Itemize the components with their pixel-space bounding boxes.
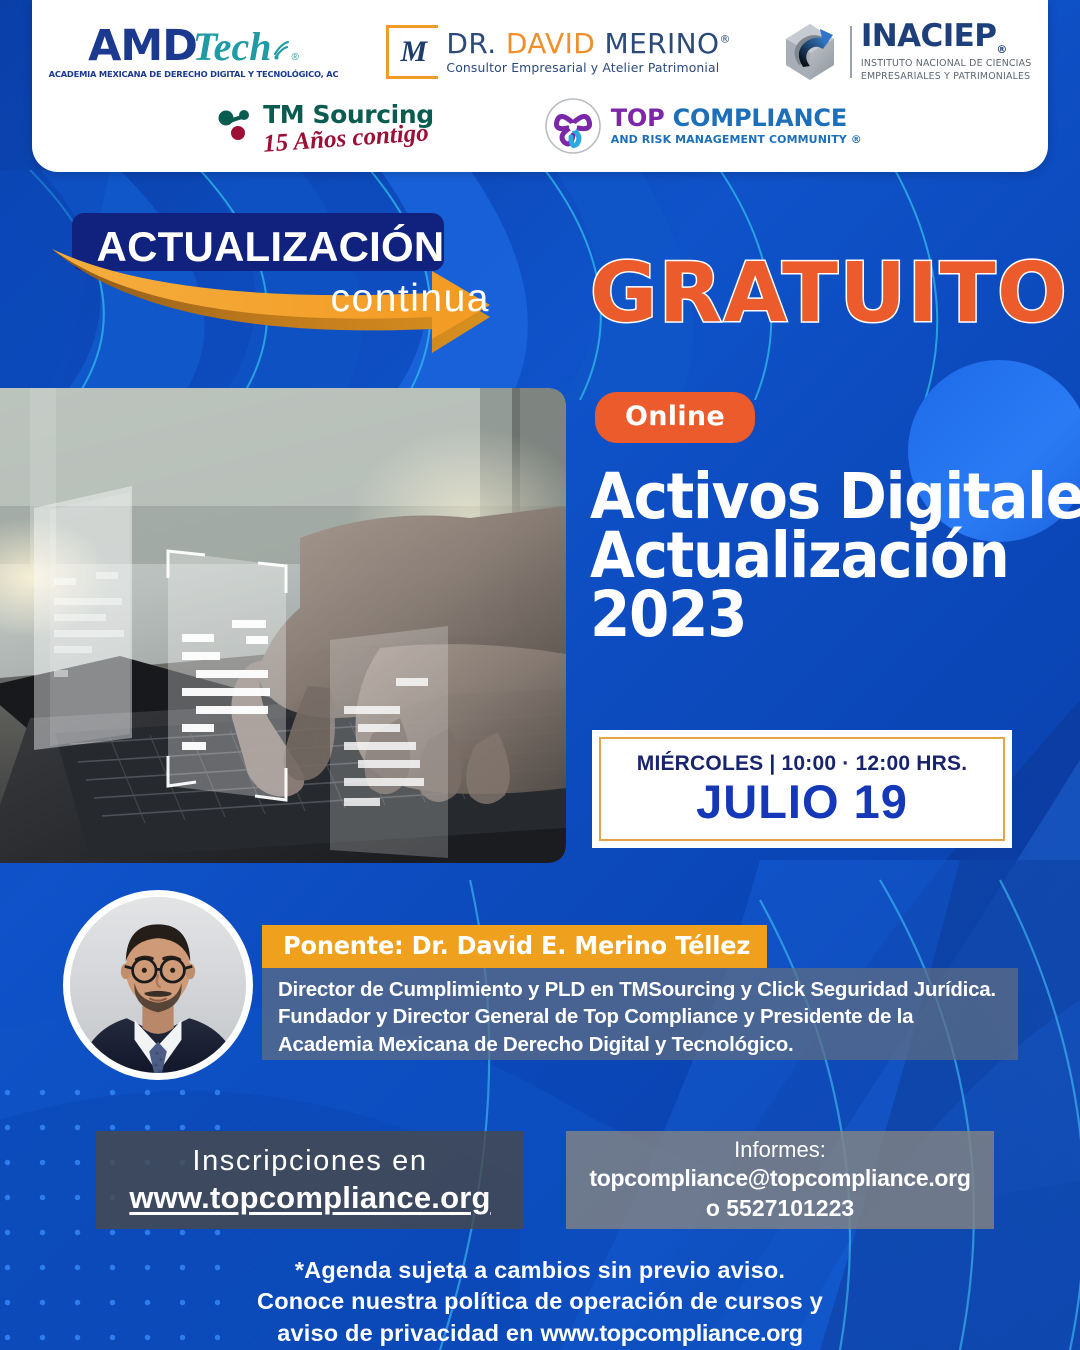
flyer-canvas: AMD Tech ® ACADEMIA MEXICANA DE DERECHO …	[0, 0, 1080, 1350]
amdtech-wordmark-main: AMD	[88, 25, 197, 68]
merino-wordmark: DR. DAVID MERINO®	[446, 29, 730, 58]
logo-dr-david-merino: M DR. DAVID MERINO® Consultor Empresaria…	[386, 25, 730, 79]
event-date: JULIO 19	[696, 777, 908, 826]
footer-website-link[interactable]: www.topcompliance.org	[540, 1320, 802, 1346]
contact-phone[interactable]: o 5527101223	[706, 1193, 854, 1224]
speaker-bio-line-1: Director de Cumplimiento y PLD en TMSour…	[278, 976, 1004, 1003]
top-compliance-wordmark: TOP COMPLIANCE	[611, 106, 862, 130]
footer-disclaimer: *Agenda sujeta a cambios sin previo avis…	[0, 1255, 1080, 1349]
merino-tagline: Consultor Empresarial y Atelier Patrimon…	[446, 60, 730, 75]
banner-line-1: ACTUALIZACIÓN	[88, 223, 453, 271]
continuous-update-banner: ACTUALIZACIÓN continua	[50, 205, 540, 365]
footer-line-3-text: aviso de privacidad en	[277, 1320, 540, 1346]
logo-row-primary: AMD Tech ® ACADEMIA MEXICANA DE DERECHO …	[49, 11, 1032, 93]
merino-name-first: DAVID	[506, 27, 595, 60]
merino-monogram-icon: M	[386, 25, 438, 79]
top-compliance-name-compliance: COMPLIANCE	[673, 104, 847, 132]
inaciep-registered-mark: ®	[996, 43, 1006, 56]
speaker-name-label: Ponente: Dr. David E. Merino Téllez	[262, 925, 767, 968]
event-title-line-2: Actualización	[590, 526, 1027, 585]
inaciep-divider	[850, 26, 852, 78]
registration-label: Inscripciones en	[192, 1145, 427, 1178]
inaciep-tagline-line1: INSTITUTO NACIONAL DE CIENCIAS	[861, 58, 1032, 70]
inaciep-wordmark: INACIEP®	[861, 21, 1032, 55]
merino-registered-mark: ®	[719, 32, 730, 45]
amdtech-registered-mark: ®	[291, 52, 298, 63]
tmsourcing-dots-icon	[218, 109, 256, 143]
logo-row-secondary: TM Sourcing 15 Años contigo	[218, 91, 862, 161]
banner-line-2: continua	[90, 277, 490, 321]
top-compliance-clover-icon	[544, 97, 602, 155]
speaker-bio-line-2: Fundador y Director General de Top Compl…	[278, 1003, 1004, 1030]
modality-badge-online: Online	[595, 392, 755, 443]
sponsor-logo-bar: AMD Tech ® ACADEMIA MEXICANA DE DERECHO …	[32, 0, 1048, 172]
inaciep-tagline-line2: EMPRESARIALES Y PATRIMONIALES	[861, 71, 1032, 83]
amdtech-tagline: ACADEMIA MEXICANA DE DERECHO DIGITAL Y T…	[49, 69, 339, 79]
event-title-line-3: 2023	[590, 585, 1027, 644]
speaker-bio: Director de Cumplimiento y PLD en TMSour…	[262, 968, 1018, 1060]
logo-amdtech: AMD Tech ® ACADEMIA MEXICANA DE DERECHO …	[49, 25, 339, 79]
speaker-portrait-image	[70, 897, 246, 1073]
amdtech-wordmark-script: Tech	[193, 27, 272, 67]
inaciep-arrow-cube-icon	[779, 21, 841, 83]
top-compliance-tagline: AND RISK MANAGEMENT COMMUNITY ®	[611, 133, 862, 146]
registration-box[interactable]: Inscripciones en www.topcompliance.org	[96, 1131, 524, 1229]
footer-line-1: *Agenda sujeta a cambios sin previo avis…	[0, 1255, 1080, 1286]
footer-line-2: Conoce nuestra política de operación de …	[0, 1286, 1080, 1317]
logo-tmsourcing: TM Sourcing 15 Años contigo	[218, 102, 434, 151]
speaker-avatar	[63, 890, 253, 1080]
logo-top-compliance: TOP COMPLIANCE AND RISK MANAGEMENT COMMU…	[544, 97, 862, 155]
wifi-signal-icon	[271, 36, 291, 60]
event-schedule: MIÉRCOLES | 10:00 · 12:00 HRS.	[637, 752, 967, 776]
event-title: Activos Digitales Actualización 2023	[590, 467, 1027, 645]
top-compliance-name-top: TOP	[611, 104, 673, 132]
hero-photo-laptop-typing	[0, 388, 566, 863]
logo-inaciep: INACIEP® INSTITUTO NACIONAL DE CIENCIAS …	[779, 21, 1032, 83]
contact-email[interactable]: topcompliance@topcompliance.org	[589, 1164, 970, 1193]
speaker-bio-line-3: Academia Mexicana de Derecho Digital y T…	[278, 1031, 1004, 1058]
event-date-card: MIÉRCOLES | 10:00 · 12:00 HRS. JULIO 19	[592, 730, 1012, 848]
merino-monogram-letter: M	[401, 35, 428, 69]
merino-name-last: MERINO	[595, 27, 719, 60]
inaciep-name: INACIEP	[861, 18, 996, 54]
merino-name-prefix: DR.	[446, 27, 505, 60]
event-title-line-1: Activos Digitales	[590, 467, 1027, 526]
contact-info-box: Informes: topcompliance@topcompliance.or…	[566, 1131, 994, 1229]
registration-url-link[interactable]: www.topcompliance.org	[129, 1180, 490, 1216]
free-label: GRATUITO	[590, 246, 1068, 341]
contact-label: Informes:	[734, 1136, 826, 1164]
footer-line-3: aviso de privacidad en www.topcompliance…	[0, 1318, 1080, 1349]
